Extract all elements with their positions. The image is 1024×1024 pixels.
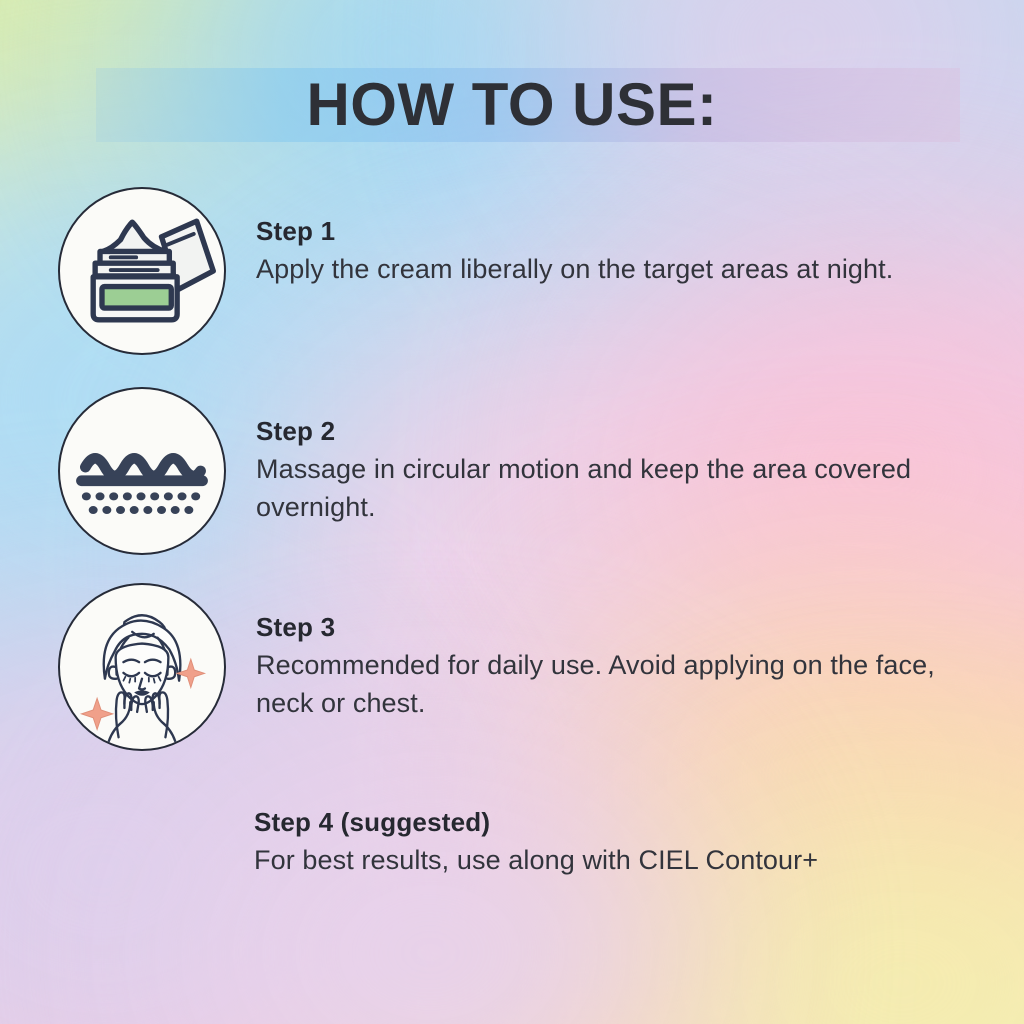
step-body: Massage in circular motion and keep the … (256, 450, 986, 526)
step-title: Step 4 (suggested) (254, 806, 984, 838)
step-row: Step 3 Recommended for daily use. Avoid … (58, 583, 988, 751)
step-body: For best results, use along with CIEL Co… (254, 841, 984, 879)
step-body: Apply the cream liberally on the target … (256, 250, 893, 288)
step-row: Step 4 (suggested) For best results, use… (254, 806, 994, 879)
face-massage-icon (58, 583, 226, 751)
step-body: Recommended for daily use. Avoid applyin… (256, 646, 986, 722)
step-row: Step 1 Apply the cream liberally on the … (58, 187, 988, 355)
step-text-block: Step 1 Apply the cream liberally on the … (256, 187, 893, 288)
cream-jar-icon (58, 187, 226, 355)
how-to-use-infographic: HOW TO USE: (0, 0, 1024, 1024)
skin-layers-wave-icon (58, 387, 226, 555)
step-title: Step 2 (256, 415, 986, 447)
step-text-block: Step 3 Recommended for daily use. Avoid … (256, 583, 986, 722)
step-text-block: Step 2 Massage in circular motion and ke… (256, 387, 986, 526)
step-title: Step 1 (256, 215, 893, 247)
step-title: Step 3 (256, 611, 986, 643)
page-title: HOW TO USE: (0, 70, 1024, 140)
step-text-block: Step 4 (suggested) For best results, use… (254, 806, 984, 879)
step-row: Step 2 Massage in circular motion and ke… (58, 387, 988, 555)
